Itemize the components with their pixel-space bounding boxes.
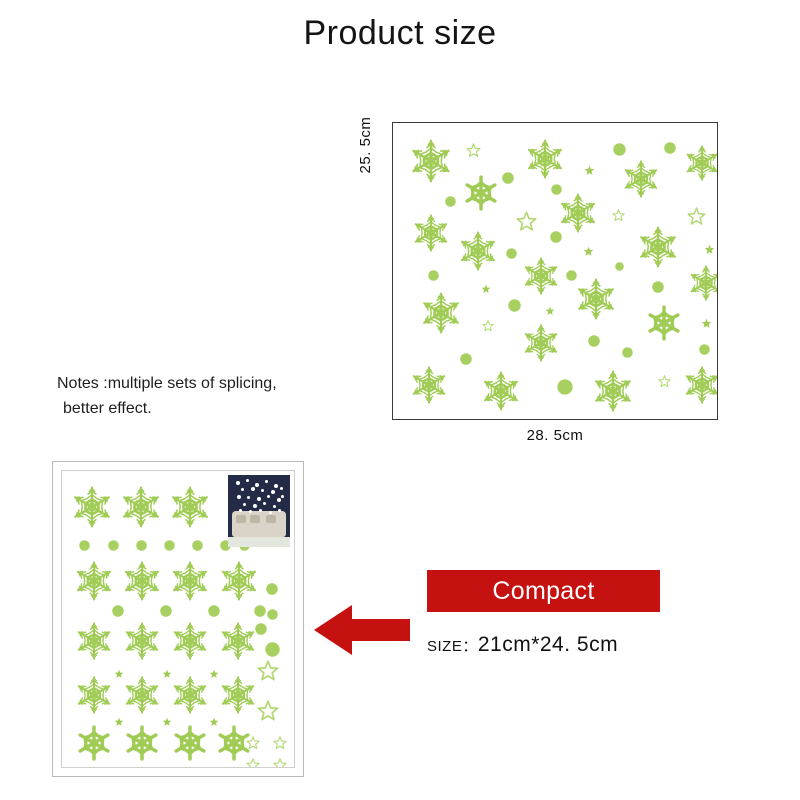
star-outline-motif (516, 211, 537, 232)
snowflake-detail-motif (170, 621, 210, 661)
dot-motif (550, 231, 562, 243)
snowflake-detail-motif (574, 277, 618, 321)
dot-motif (254, 605, 266, 617)
snowflake-detail-motif (121, 560, 163, 602)
photo-floor (228, 537, 290, 547)
photo-decal-dot (257, 497, 261, 501)
photo-sofa-cushion (250, 515, 260, 523)
star-outline-motif (466, 143, 481, 158)
dot-motif (664, 142, 676, 154)
dot-motif (652, 281, 664, 293)
snowflake-simple-motif (75, 724, 113, 762)
photo-decal-dot (251, 487, 255, 491)
notes-text: Notes :multiple sets of splicing, better… (57, 372, 357, 422)
sticker-sheet-inner (61, 470, 295, 768)
snowflake-detail-motif (74, 675, 114, 715)
snowflake-detail-motif (74, 621, 114, 661)
dot-motif (164, 540, 175, 551)
snowflake-detail-motif (122, 621, 162, 661)
snowflake-detail-motif (480, 370, 522, 412)
dot-motif (136, 540, 147, 551)
photo-decal-dot (281, 495, 284, 498)
photo-decal-dot (267, 495, 270, 498)
page-title: Product size (0, 14, 800, 53)
star-filled-motif (209, 669, 219, 679)
compact-size-value: 21cm*24. 5cm (478, 633, 618, 656)
star-outline-motif (257, 660, 279, 682)
star-filled-motif (584, 165, 595, 176)
compact-banner-label: Compact (492, 577, 594, 606)
dot-motif (508, 299, 521, 312)
snowflake-detail-motif (70, 485, 114, 529)
star-outline-motif (246, 736, 260, 750)
star-filled-motif (704, 244, 715, 255)
snowflake-detail-motif (409, 365, 449, 405)
dot-motif (699, 344, 710, 355)
snowflake-detail-motif (521, 323, 561, 363)
snowflake-detail-motif (170, 675, 210, 715)
star-outline-motif (687, 207, 706, 226)
photo-decal-dot (265, 480, 268, 483)
photo-decal-dot (269, 511, 272, 514)
photo-decal-dot (273, 505, 276, 508)
snowflake-detail-motif (408, 138, 454, 184)
photo-sofa-cushion (266, 515, 276, 523)
snowflake-detail-motif (168, 485, 212, 529)
snowflake-artwork (393, 123, 717, 419)
snowflake-detail-motif (683, 144, 717, 182)
snowflake-detail-motif (218, 621, 258, 661)
photo-decal-dot (277, 498, 281, 502)
star-outline-motif (612, 209, 625, 222)
snowflake-detail-motif (557, 192, 599, 234)
snowflake-detail-motif (419, 291, 463, 335)
snowflake-simple-motif (171, 724, 209, 762)
star-filled-motif (114, 669, 124, 679)
dot-motif (265, 642, 280, 657)
snowflake-detail-motif (682, 365, 717, 405)
dot-motif (445, 196, 456, 207)
dot-motif (588, 335, 600, 347)
photo-decal-dot (247, 496, 250, 499)
star-filled-motif (209, 717, 219, 727)
photo-decal-dot (249, 510, 252, 513)
photo-decal-dot (241, 488, 244, 491)
star-filled-motif (162, 717, 172, 727)
compact-banner: Compact (427, 570, 660, 612)
snowflake-detail-motif (687, 264, 717, 302)
star-outline-motif (658, 375, 671, 388)
snowflake-detail-motif (218, 675, 258, 715)
snowflake-simple-motif (462, 174, 500, 212)
photo-decal-dot (236, 481, 240, 485)
photo-sofa-cushion (236, 515, 246, 523)
dot-motif (266, 583, 278, 595)
photo-decal-dot (243, 503, 246, 506)
snowflake-detail-motif (457, 230, 499, 272)
dot-motif (428, 270, 439, 281)
snowflake-detail-motif (411, 213, 451, 253)
photo-decal-dot (246, 479, 249, 482)
star-filled-motif (583, 246, 594, 257)
sticker-sheet (52, 461, 304, 777)
star-outline-motif (273, 736, 287, 750)
snowflake-detail-motif (119, 485, 163, 529)
star-filled-motif (545, 306, 555, 316)
snowflake-detail-motif (218, 560, 260, 602)
pointer-arrow-icon (314, 603, 410, 657)
dot-motif (267, 609, 278, 620)
star-outline-motif (257, 700, 279, 722)
photo-decal-dot (271, 490, 275, 494)
dot-motif (557, 379, 573, 395)
photo-decal-dot (280, 487, 283, 490)
star-filled-motif (481, 284, 491, 294)
star-filled-motif (701, 318, 712, 329)
dot-motif (79, 540, 90, 551)
dot-motif (208, 605, 220, 617)
photo-decal-dot (253, 504, 257, 508)
snowflake-simple-motif (123, 724, 161, 762)
photo-decal-dot (263, 502, 266, 505)
photo-decal-dot (237, 495, 241, 499)
notes-line-2: better effect. (57, 397, 357, 422)
compact-size-label: SIZE： (427, 638, 478, 655)
dot-motif (160, 605, 172, 617)
snowflake-detail-motif (521, 256, 561, 296)
dimension-width-label: 28. 5cm (392, 427, 718, 444)
dot-motif (108, 540, 119, 551)
compact-size-line: SIZE：21cm*24. 5cm (427, 633, 687, 657)
star-filled-motif (114, 717, 124, 727)
star-outline-motif (246, 758, 260, 767)
dot-motif (615, 262, 624, 271)
dot-motif (622, 347, 633, 358)
dimension-height-label: 25. 5cm (357, 90, 374, 200)
photo-decal-dot (255, 483, 259, 487)
snowflake-detail-motif (636, 225, 680, 269)
snowflake-simple-motif (645, 304, 683, 342)
snowflake-detail-motif (524, 138, 566, 180)
photo-decal-dot (259, 509, 262, 512)
photo-decal-dot (239, 509, 242, 512)
dot-motif (506, 248, 517, 259)
snowflake-detail-motif (591, 369, 635, 413)
photo-decal-dot (278, 509, 281, 512)
dot-motif (112, 605, 124, 617)
room-preview-photo (228, 475, 290, 547)
snowflake-detail-motif (73, 560, 115, 602)
star-outline-motif (482, 320, 494, 332)
dot-motif (460, 353, 472, 365)
star-outline-motif (273, 758, 287, 767)
product-size-sample-panel (392, 122, 718, 420)
star-filled-motif (162, 669, 172, 679)
dot-motif (255, 623, 267, 635)
photo-decal-dot (261, 489, 264, 492)
dot-motif (192, 540, 203, 551)
dot-motif (502, 172, 514, 184)
snowflake-detail-motif (621, 159, 661, 199)
dot-motif (613, 143, 626, 156)
snowflake-detail-motif (122, 675, 162, 715)
snowflake-detail-motif (169, 560, 211, 602)
photo-decal-dot (274, 484, 278, 488)
notes-line-1: Notes :multiple sets of splicing, (57, 375, 277, 392)
